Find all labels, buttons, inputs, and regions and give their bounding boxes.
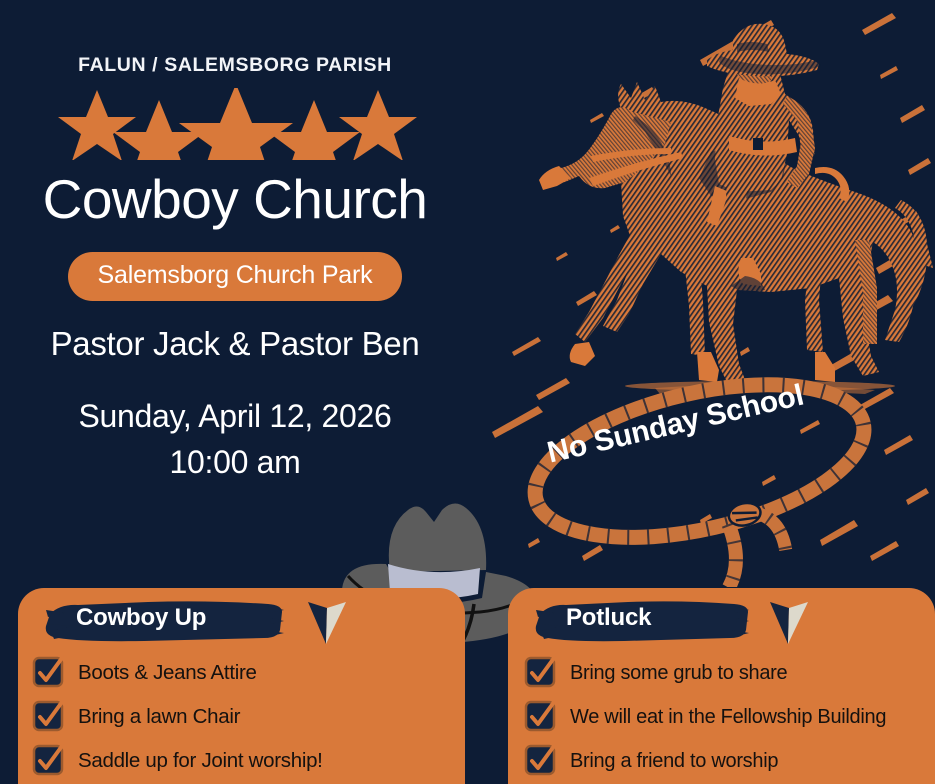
list-item-label: Bring a lawn Chair (78, 705, 240, 729)
card-heading-label: Potluck (566, 604, 651, 632)
event-datetime: Sunday, April 12, 2026 10:00 am (0, 393, 470, 486)
pennant-icon (768, 598, 810, 646)
pennant-icon (306, 598, 348, 646)
list-item[interactable]: Saddle up for Joint worship! (32, 744, 479, 778)
venue-badge: Salemsborg Church Park (68, 252, 403, 301)
card-checklist: Boots & Jeans Attire Bring a lawn Chair (32, 656, 479, 784)
event-time: 10:00 am (0, 439, 470, 485)
list-item-label: We will eat in the Fellowship Building (570, 706, 886, 729)
page-title: Cowboy Church (0, 167, 470, 231)
list-item[interactable]: Bring some grub to share (524, 656, 935, 690)
checkbox-checked-icon[interactable] (32, 656, 66, 690)
venue-pill-container: Salemsborg Church Park (0, 252, 470, 301)
list-item-label: Boots & Jeans Attire (78, 661, 257, 685)
checkbox-checked-icon[interactable] (524, 700, 558, 734)
star-icon (58, 90, 136, 160)
cowboy-on-horseback-icon (515, 0, 935, 400)
pastors-line: Pastor Jack & Pastor Ben (0, 325, 470, 363)
card-checklist: Bring some grub to share We will eat in … (524, 656, 935, 784)
poster-canvas: FALUN / SALEMSBORG PARISH Cowboy Church … (0, 0, 935, 784)
card-heading-label: Cowboy Up (76, 604, 206, 632)
list-item-label: Saddle up for Joint worship! (78, 749, 323, 773)
list-item-label: Bring some grub to share (570, 662, 787, 685)
parish-name: FALUN / SALEMSBORG PARISH (0, 54, 470, 77)
event-date: Sunday, April 12, 2026 (0, 393, 470, 439)
checkbox-checked-icon[interactable] (32, 700, 66, 734)
checkbox-checked-icon[interactable] (32, 744, 66, 778)
checkbox-checked-icon[interactable] (524, 656, 558, 690)
star-icon (339, 90, 417, 160)
star-rating-decoration (0, 88, 470, 160)
list-item-label: Bring a friend to worship (570, 750, 778, 773)
checkbox-checked-icon[interactable] (524, 744, 558, 778)
star-icon (179, 88, 293, 160)
list-item[interactable]: Bring a friend to worship (524, 744, 935, 778)
list-item[interactable]: We will eat in the Fellowship Building (524, 700, 935, 734)
list-item[interactable]: Boots & Jeans Attire (32, 656, 479, 690)
card-cowboy-up: Cowboy Up Boots & Jeans Attire (18, 588, 465, 784)
list-item[interactable]: Bring a lawn Chair (32, 700, 479, 734)
card-potluck: Potluck Bring some grub to share (508, 588, 935, 784)
